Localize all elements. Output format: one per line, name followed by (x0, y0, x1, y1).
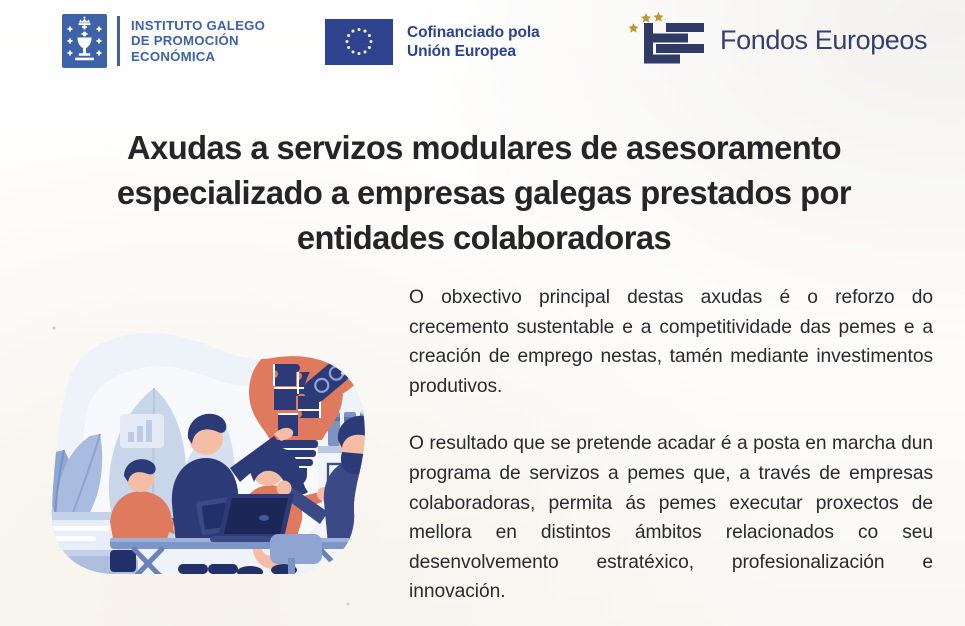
wall-chart-icon (120, 414, 164, 448)
igape-line-3: ECONÓMICA (131, 49, 265, 65)
igape-line-1: INSTITUTO GALEGO (131, 18, 265, 34)
european-union-flag-icon (325, 19, 393, 65)
igape-divider (117, 16, 120, 66)
team-collaboration-illustration (2, 286, 400, 616)
paragraph-1: O obxectivo principal destas axudas é o … (409, 283, 933, 401)
eu-line-2: Unión Europea (407, 42, 540, 61)
logo-bar: INSTITUTO GALEGO DE PROMOCIÓN ECONÓMICA (0, 0, 965, 84)
igape-wordmark: INSTITUTO GALEGO DE PROMOCIÓN ECONÓMICA (131, 18, 265, 65)
fondos-europeos-label: Fondos Europeos (720, 25, 927, 55)
paragraph-2: O resultado que se pretende acadar é a p… (409, 429, 933, 607)
body-text: O obxectivo principal destas axudas é o … (409, 283, 933, 607)
european-union-logo: Cofinanciado pola Unión Europea (325, 17, 540, 67)
igape-line-2: DE PROMOCIÓN (131, 33, 265, 49)
page-title: Axudas a servizos modulares de asesorame… (45, 126, 923, 261)
galicia-coat-of-arms-icon (62, 14, 107, 68)
eu-line-1: Cofinanciado pola (407, 23, 540, 42)
fondos-europeos-logo: Fondos Europeos (618, 8, 927, 72)
fondos-europeos-bars-icon (618, 9, 710, 71)
igape-logo: INSTITUTO GALEGO DE PROMOCIÓN ECONÓMICA (62, 12, 265, 70)
european-union-wordmark: Cofinanciado pola Unión Europea (407, 23, 540, 61)
